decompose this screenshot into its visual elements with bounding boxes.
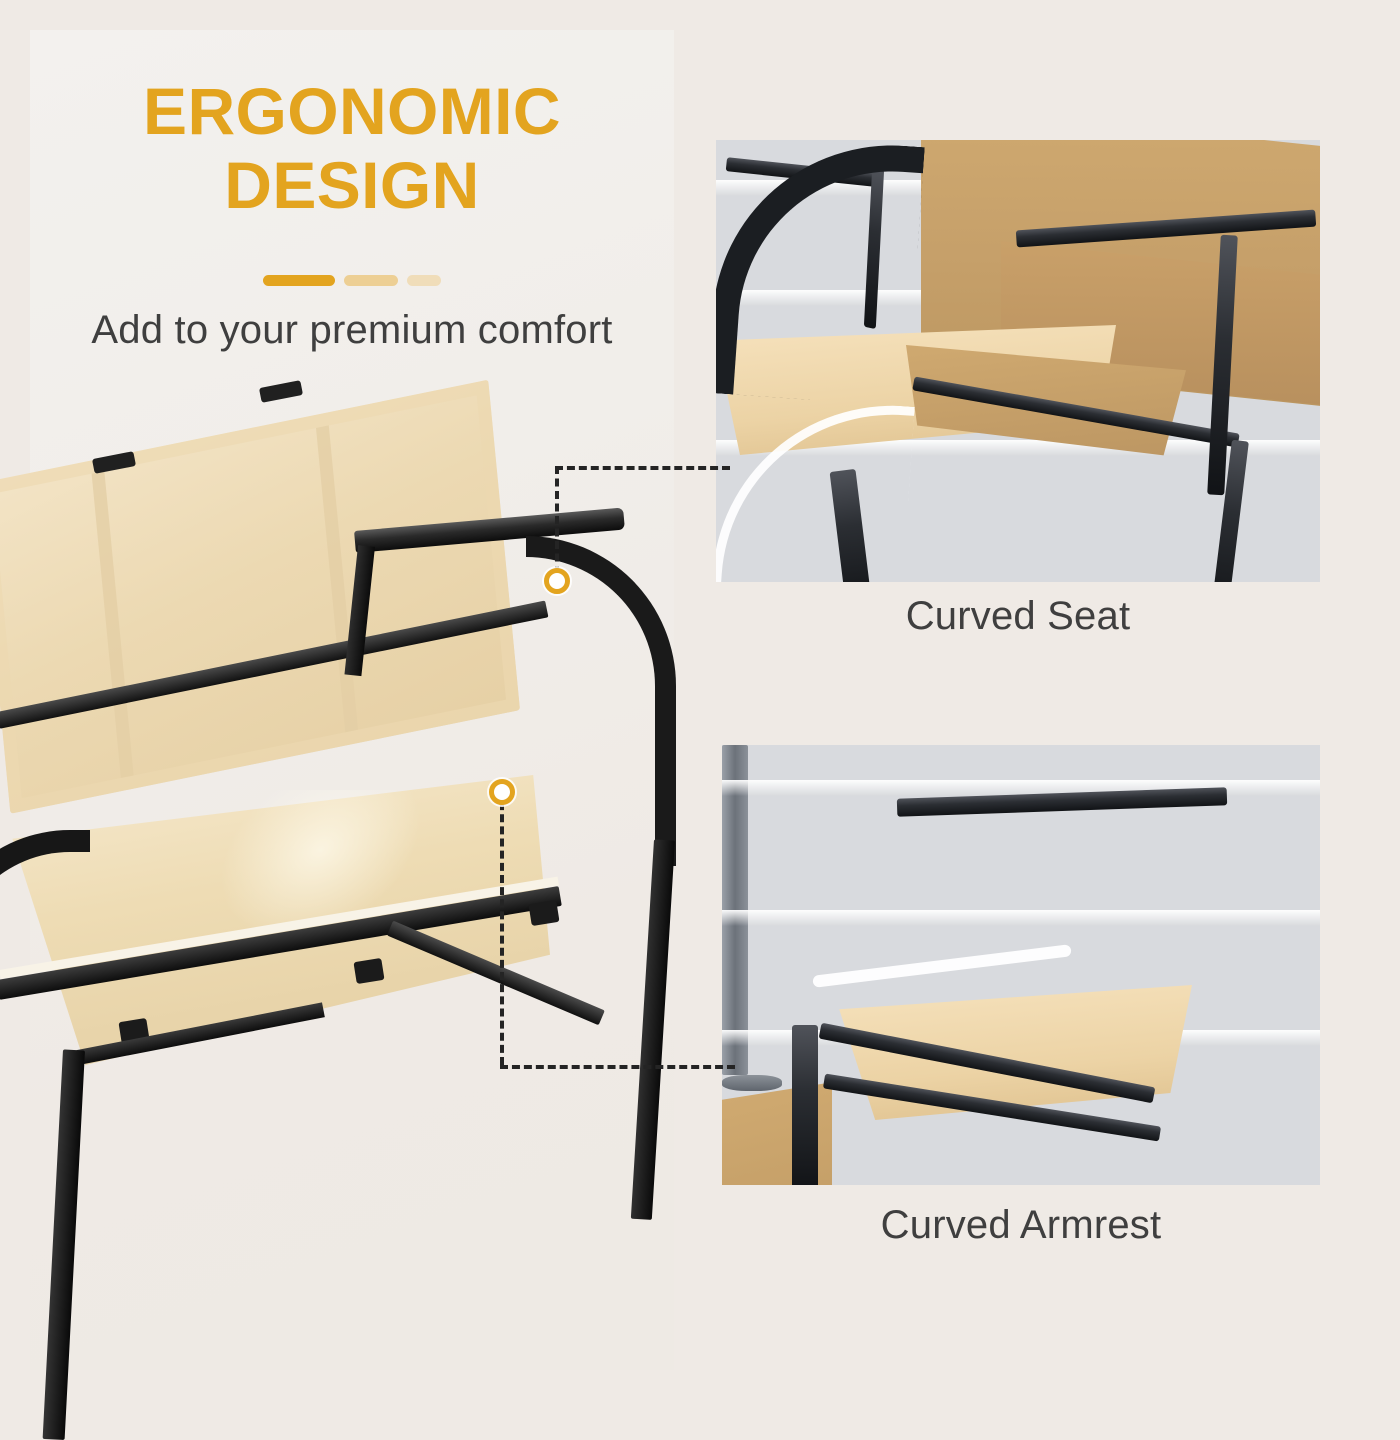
detail-photo-curved-armrest[interactable] [722,745,1320,1185]
callout-dot-seat-icon[interactable] [544,568,570,594]
product-hero-image [0,360,730,1370]
caption-curved-armrest: Curved Armrest [722,1203,1320,1248]
bench-backrest-mesh [0,380,520,814]
floor-seam [722,910,1320,926]
seat-clip [353,958,384,984]
callout-dot-armrest-icon[interactable] [489,779,515,805]
page-title: ERGONOMIC DESIGN [30,75,674,223]
callout-line-armrest-horizontal [500,1065,735,1069]
bench-front-leg-left [43,1049,85,1440]
caption-curved-seat: Curved Seat [716,594,1320,639]
headline-line-1: ERGONOMIC [30,75,674,149]
bench-front-leg-right [631,839,675,1220]
decorative-divider [30,275,674,286]
divider-dash-medium-icon [344,275,398,286]
headline-line-2: DESIGN [30,149,674,223]
divider-dash-short-icon [407,275,441,286]
callout-line-seat-horizontal [555,466,730,470]
divider-dash-long-icon [263,275,335,286]
page-subtitle: Add to your premium comfort [30,308,674,353]
callout-line-seat-vertical [555,466,559,574]
callout-line-armrest-vertical [500,790,504,1065]
chair-front-leg-left [792,1025,818,1185]
seat-clip [528,900,559,926]
detail-photo-curved-seat[interactable] [716,140,1320,582]
hero-panel: ERGONOMIC DESIGN Add to your premium com… [30,30,674,1370]
backrest-cap-right [259,380,303,403]
bench-armrest-curve-left [0,830,90,1060]
